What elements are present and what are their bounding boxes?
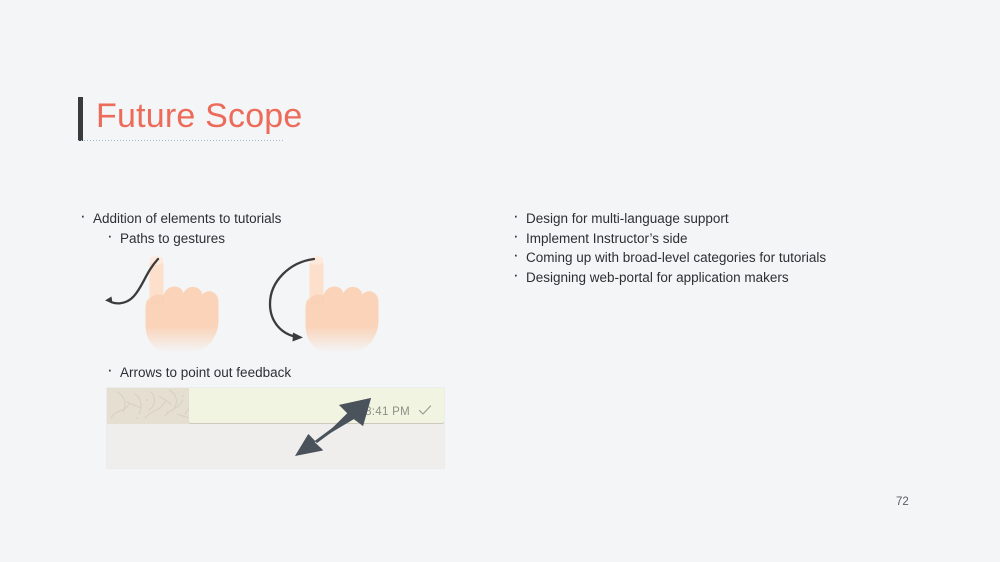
gesture-illustrations bbox=[100, 248, 390, 353]
list-item: Designing web-portal for application mak… bbox=[511, 268, 951, 288]
arc-path-arrowhead bbox=[293, 333, 304, 342]
message-delivered-check-icon bbox=[418, 404, 432, 416]
list-item: Coming up with broad-level categories fo… bbox=[511, 248, 951, 268]
arrow-tail bbox=[296, 414, 356, 456]
list-item: Design for multi-language support bbox=[511, 209, 951, 229]
list-item: Addition of elements to tutorials bbox=[78, 209, 478, 229]
left-bullet-list-secondary: Arrows to point out feedback bbox=[78, 363, 478, 383]
hand-swipe-path-gesture bbox=[100, 248, 240, 353]
page-title: Future Scope bbox=[96, 94, 303, 138]
list-item: Paths to gestures bbox=[78, 229, 478, 249]
hand-arc-path-gesture bbox=[260, 248, 400, 353]
title-dotted-underline bbox=[78, 139, 285, 141]
right-bullet-list: Design for multi-language support Implem… bbox=[511, 209, 951, 287]
hand-swipe-icon bbox=[100, 248, 240, 353]
swipe-path-arrowhead bbox=[105, 297, 113, 304]
left-bullet-list: Addition of elements to tutorials Paths … bbox=[78, 209, 478, 248]
list-item: Implement Instructor’s side bbox=[511, 229, 951, 249]
chat-lower-area bbox=[107, 424, 444, 468]
page-number: 72 bbox=[896, 496, 909, 508]
title-accent-bar bbox=[78, 97, 83, 141]
feedback-pointer-arrow-icon bbox=[293, 396, 373, 458]
slide-canvas: Future Scope Addition of elements to tut… bbox=[0, 0, 1000, 562]
title-block: Future Scope bbox=[78, 94, 498, 150]
list-item: Arrows to point out feedback bbox=[78, 363, 478, 383]
chat-screenshot: 8:41 PM bbox=[107, 388, 444, 468]
hand-arc-icon bbox=[260, 248, 400, 353]
